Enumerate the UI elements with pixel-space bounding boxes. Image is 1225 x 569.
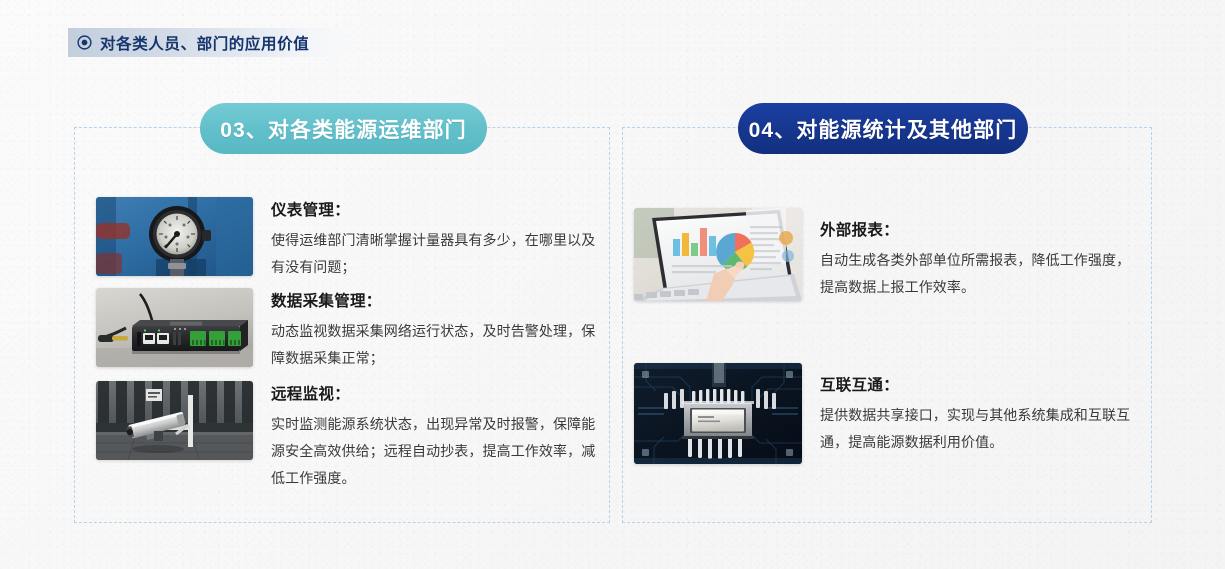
list-item-copy: 数据采集管理： 动态监视数据采集网络运行状态，及时告警处理，保障数据采集正常； [271, 288, 596, 372]
data-acquisition-gateway-photo [96, 288, 253, 367]
list-item-body: 自动生成各类外部单位所需报表，降低工作强度，提高数据上报工作效率。 [820, 247, 1139, 301]
list-item-body: 提供数据共享接口，实现与其他系统集成和互联互通，提高能源数据利用价值。 [820, 402, 1139, 456]
pressure-gauge-photo [96, 197, 253, 276]
list-item-title: 互联互通： [820, 373, 1139, 395]
list-item-body: 实时监测能源系统状态，出现异常及时报警，保障能源安全高效供给；远程自动抄表，提高… [271, 411, 596, 492]
cpu-circuit-board-photo [634, 363, 802, 464]
panel-title-pill-04: 04、对能源统计及其他部门 [738, 103, 1028, 154]
list-item-copy: 仪表管理： 使得运维部门清晰掌握计量器具有多少，在哪里以及有没有问题； [271, 197, 596, 281]
list-item: 仪表管理： 使得运维部门清晰掌握计量器具有多少，在哪里以及有没有问题； [96, 197, 596, 281]
list-item: 外部报表： 自动生成各类外部单位所需报表，降低工作强度，提高数据上报工作效率。 [634, 208, 1139, 301]
list-item-title: 外部报表： [820, 218, 1139, 240]
list-item-copy: 互联互通： 提供数据共享接口，实现与其他系统集成和互联互通，提高能源数据利用价值… [820, 363, 1139, 456]
list-item-title: 远程监视： [271, 382, 596, 404]
list-item-body: 使得运维部门清晰掌握计量器具有多少，在哪里以及有没有问题； [271, 227, 596, 281]
list-item-body: 动态监视数据采集网络运行状态，及时告警处理，保障数据采集正常； [271, 318, 596, 372]
target-bullseye-icon [77, 35, 92, 50]
laptop-charts-photo [634, 208, 802, 301]
list-item: 远程监视： 实时监测能源系统状态，出现异常及时报警，保障能源安全高效供给；远程自… [96, 381, 596, 492]
list-item: 数据采集管理： 动态监视数据采集网络运行状态，及时告警处理，保障数据采集正常； [96, 288, 596, 372]
panel-title-label-04: 04、对能源统计及其他部门 [749, 114, 1018, 144]
list-item-copy: 远程监视： 实时监测能源系统状态，出现异常及时报警，保障能源安全高效供给；远程自… [271, 381, 596, 492]
list-item: 互联互通： 提供数据共享接口，实现与其他系统集成和互联互通，提高能源数据利用价值… [634, 363, 1139, 464]
section-header-bar: 对各类人员、部门的应用价值 [68, 28, 347, 57]
surveillance-camera-photo [96, 381, 253, 460]
panel-title-label-03: 03、对各类能源运维部门 [220, 114, 467, 144]
panel-title-pill-03: 03、对各类能源运维部门 [200, 103, 487, 154]
page-title: 对各类人员、部门的应用价值 [100, 32, 309, 54]
list-item-title: 仪表管理： [271, 198, 596, 220]
list-item-copy: 外部报表： 自动生成各类外部单位所需报表，降低工作强度，提高数据上报工作效率。 [820, 208, 1139, 301]
list-item-title: 数据采集管理： [271, 289, 596, 311]
